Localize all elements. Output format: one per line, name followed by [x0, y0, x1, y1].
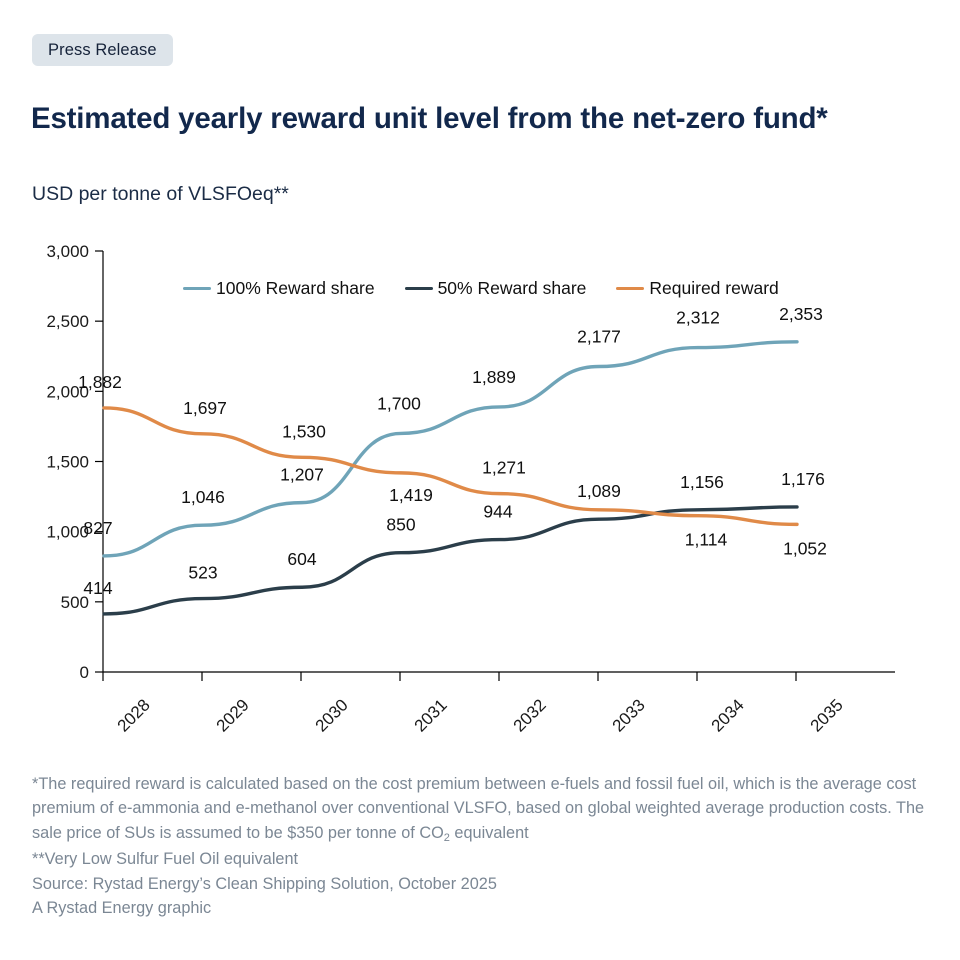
x-tick-label: 2035 [807, 695, 847, 735]
data-label: 1,089 [577, 481, 621, 501]
y-tick-label: 0 [80, 663, 89, 682]
y-axis: 05001,0001,5002,0002,5003,000 [46, 242, 103, 682]
data-label: 1,889 [472, 367, 516, 387]
page-root: Press Release Estimated yearly reward un… [0, 0, 960, 960]
data-label: 414 [83, 578, 112, 598]
x-axis: 20282029203020312032203320342035 [103, 672, 895, 736]
data-label: 1,271 [482, 458, 526, 478]
x-tick-label: 2030 [312, 695, 352, 735]
chart-canvas: 05001,0001,5002,0002,5003,000 2028202920… [0, 0, 960, 760]
data-label: 1,419 [389, 485, 433, 505]
footnote-paragraph: *The required reward is calculated based… [32, 772, 937, 847]
data-label: 2,353 [779, 304, 823, 324]
x-tick-label: 2032 [510, 695, 550, 735]
data-label: 604 [287, 549, 316, 569]
line-chart: 05001,0001,5002,0002,5003,000 2028202920… [0, 0, 960, 760]
y-tick-label: 3,000 [46, 242, 89, 261]
legend-label-1: 50% Reward share [438, 278, 587, 299]
data-label: 523 [188, 563, 217, 583]
footnote-line-3: Source: Rystad Energy’s Clean Shipping S… [32, 872, 937, 896]
y-tick-label: 1,500 [46, 453, 89, 472]
x-tick-label: 2029 [213, 695, 253, 735]
data-label: 1,114 [685, 530, 728, 550]
footnote-subscript: 2 [444, 832, 450, 844]
footnote-line-2: **Very Low Sulfur Fuel Oil equivalent [32, 847, 937, 871]
x-tick-label: 2031 [411, 695, 451, 735]
footnote-paragraph-tail: equivalent [450, 824, 529, 842]
data-label: 1,697 [183, 398, 227, 418]
data-label: 1,176 [781, 469, 825, 489]
legend-swatch-icon [405, 287, 433, 291]
data-label: 944 [483, 502, 512, 522]
data-label: 850 [386, 515, 415, 535]
data-label: 1,530 [282, 421, 326, 441]
series-line-1 [104, 507, 797, 614]
data-label: 1,052 [783, 538, 827, 558]
x-tick-label: 2033 [609, 695, 649, 735]
data-label: 1,207 [280, 465, 324, 485]
x-tick-label: 2034 [708, 695, 748, 735]
x-tick-label: 2028 [114, 695, 154, 735]
legend-label-2: Required reward [649, 278, 778, 299]
data-label: 1,700 [377, 393, 421, 413]
series-line-0 [104, 342, 797, 556]
chart-legend: 100% Reward share 50% Reward share Requi… [183, 278, 809, 299]
legend-swatch-icon [183, 287, 211, 291]
data-label: 2,312 [676, 308, 720, 328]
data-label: 1,882 [78, 372, 122, 392]
data-label: 827 [83, 518, 112, 538]
y-tick-label: 2,500 [46, 312, 89, 331]
footnotes: *The required reward is calculated based… [32, 772, 937, 920]
legend-label-0: 100% Reward share [216, 278, 375, 299]
legend-item-0: 100% Reward share [183, 278, 375, 299]
data-label: 1,156 [680, 472, 724, 492]
data-label: 2,177 [577, 326, 621, 346]
footnote-line-4: A Rystad Energy graphic [32, 896, 937, 920]
legend-swatch-icon [616, 287, 644, 291]
legend-item-1: 50% Reward share [405, 278, 587, 299]
legend-item-2: Required reward [616, 278, 778, 299]
data-label: 1,046 [181, 487, 225, 507]
